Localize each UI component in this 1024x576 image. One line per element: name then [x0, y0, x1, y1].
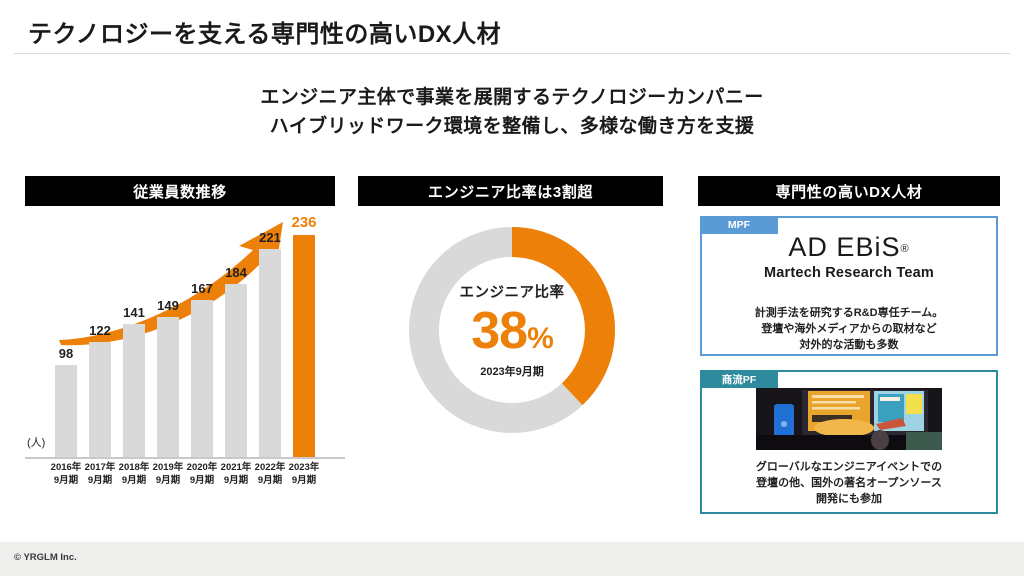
bar-rect [191, 300, 213, 457]
card-shoryu-pf[interactable]: 商流PF グローバル [700, 370, 998, 514]
bar-rect [123, 324, 145, 457]
registered-mark-icon: ® [900, 243, 909, 255]
lead-copy: エンジニア主体で事業を展開するテクノロジーカンパニー ハイブリッドワーク環境を整… [0, 84, 1024, 141]
section-header-engineer-ratio: エンジニア比率は3割超 [358, 176, 663, 206]
x-axis-tick-label: 2023年9月期 [284, 462, 324, 488]
bar-value-label: 184 [219, 265, 253, 280]
bar-column: 236 [287, 212, 321, 457]
bar-column: 141 [117, 212, 151, 457]
bar-column: 184 [219, 212, 253, 457]
bar-rect [293, 235, 315, 457]
bar-column: 221 [253, 212, 287, 457]
bar-rect [89, 342, 111, 457]
card-description-line: 登壇や海外メディアからの取材など [708, 322, 990, 338]
bar-column: 149 [151, 212, 185, 457]
card-description-line: 計測手法を研究するR&D専任チーム。 [708, 306, 990, 322]
bar-rect [157, 317, 179, 457]
engineer-ratio-donut: エンジニア比率 38% 2023年9月期 [400, 218, 624, 442]
bar-column: 167 [185, 212, 219, 457]
bar-value-label: 167 [185, 281, 219, 296]
bar-chart-plot-area: 98122141149167184221236 [25, 212, 345, 457]
footer-band: © YRGLM Inc. [0, 542, 1024, 576]
donut-value: 38% [471, 304, 553, 359]
title-divider [14, 53, 1010, 54]
bar-rect [259, 249, 281, 457]
bar-column: 98 [49, 212, 83, 457]
page-title: テクノロジーを支える専門性の高いDX人材 [28, 14, 501, 49]
bar-value-label: 98 [49, 346, 83, 361]
bar-value-label: 122 [83, 323, 117, 338]
bar-chart-unit-label: (人) [27, 434, 45, 450]
slide-root: テクノロジーを支える専門性の高いDX人材 エンジニア主体で事業を展開するテクノロ… [0, 0, 1024, 576]
card-description-line: 登壇の他、国外の著名オープンソース [708, 476, 990, 492]
card-description-line: グローバルなエンジニアイベントでの [708, 460, 990, 476]
event-photo [756, 388, 942, 450]
employee-bar-chart: 98122141149167184221236 (人) 2016年9月期2017… [25, 212, 345, 502]
bar-chart-baseline [25, 457, 345, 459]
donut-caption: エンジニア比率 [460, 281, 565, 302]
bar-column: 122 [83, 212, 117, 457]
section-header-dx-talent: 専門性の高いDX人材 [698, 176, 1000, 206]
donut-value-unit: % [527, 322, 553, 355]
bar-chart-x-axis-labels: 2016年9月期2017年9月期2018年9月期2019年9月期2020年9月期… [25, 462, 345, 502]
copyright-text: © YRGLM Inc. [14, 552, 77, 563]
section-header-employees: 従業員数推移 [25, 176, 335, 206]
adebis-name: AD EBiS [788, 232, 900, 262]
donut-value-number: 38 [471, 302, 527, 360]
donut-period: 2023年9月期 [480, 363, 544, 379]
bar-rect [225, 284, 247, 457]
donut-center-label: エンジニア比率 38% 2023年9月期 [400, 218, 624, 442]
bar-value-label: 221 [253, 230, 287, 245]
lead-line-1: エンジニア主体で事業を展開するテクノロジーカンパニー [0, 84, 1024, 113]
bar-value-label: 141 [117, 305, 151, 320]
card-tag-shoryu-pf: 商流PF [700, 370, 778, 388]
adebis-team-name: Martech Research Team [702, 265, 996, 281]
bar-rect [55, 365, 77, 457]
card-shoryu-description: グローバルなエンジニアイベントでの登壇の他、国外の著名オープンソース開発にも参加 [708, 460, 990, 508]
bar-value-label: 149 [151, 298, 185, 313]
bar-value-label: 236 [287, 214, 321, 231]
lead-line-2: ハイブリッドワーク環境を整備し、多様な働き方を支援 [0, 113, 1024, 142]
card-description-line: 対外的な活動も多数 [708, 338, 990, 354]
adebis-wordmark: AD EBiS® [702, 232, 996, 263]
card-mpf[interactable]: MPF AD EBiS® Martech Research Team 計測手法を… [700, 216, 998, 356]
card-description-line: 開発にも参加 [708, 492, 990, 508]
adebis-logo: AD EBiS® Martech Research Team [702, 232, 996, 281]
card-mpf-description: 計測手法を研究するR&D専任チーム。登壇や海外メディアからの取材など対外的な活動… [708, 306, 990, 354]
